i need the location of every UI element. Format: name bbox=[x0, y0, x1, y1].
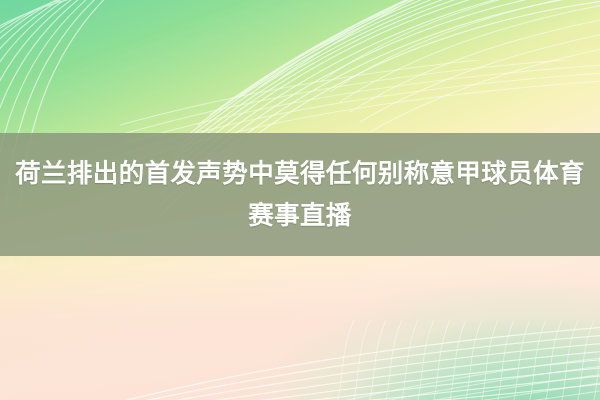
headline-band: 荷兰排出的首发声势中莫得任何别称意甲球员体育赛事直播 bbox=[0, 133, 600, 256]
arc-ripple-bottom-right bbox=[330, 318, 600, 400]
banner-canvas: 荷兰排出的首发声势中莫得任何别称意甲球员体育赛事直播 bbox=[0, 0, 600, 400]
headline-band-inner: 荷兰排出的首发声势中莫得任何别称意甲球员体育赛事直播 bbox=[0, 153, 600, 237]
page-title: 荷兰排出的首发声势中莫得任何别称意甲球员体育赛事直播 bbox=[6, 153, 594, 237]
